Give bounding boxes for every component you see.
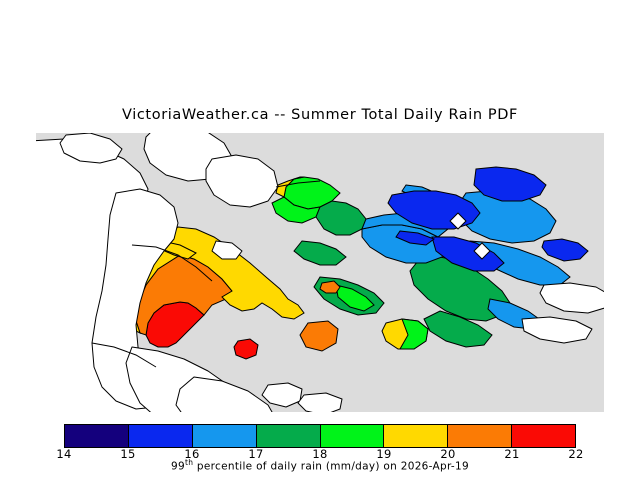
colorbar-band-0 xyxy=(65,425,128,447)
caption-percentile-number: 99 xyxy=(171,461,185,473)
map-svg xyxy=(36,133,604,412)
colorbar-band-7 xyxy=(511,425,575,447)
colorbar xyxy=(64,424,576,448)
colorbar-band-4 xyxy=(320,425,384,447)
colorbar-band-5 xyxy=(383,425,447,447)
colorbar-band-2 xyxy=(192,425,256,447)
page-title: VictoriaWeather.ca -- Summer Total Daily… xyxy=(0,107,640,123)
caption-rest: percentile of daily rain (mm/day) on 202… xyxy=(193,461,469,473)
colorbar-caption: 99th percentile of daily rain (mm/day) o… xyxy=(0,458,640,473)
map-canvas xyxy=(36,133,604,412)
contour-island-red-small xyxy=(234,339,258,359)
colorbar-container xyxy=(64,424,576,448)
colorbar-band-1 xyxy=(128,425,192,447)
weather-map-page: VictoriaWeather.ca -- Summer Total Daily… xyxy=(0,0,640,480)
colorbar-band-3 xyxy=(256,425,320,447)
colorbar-band-6 xyxy=(447,425,511,447)
